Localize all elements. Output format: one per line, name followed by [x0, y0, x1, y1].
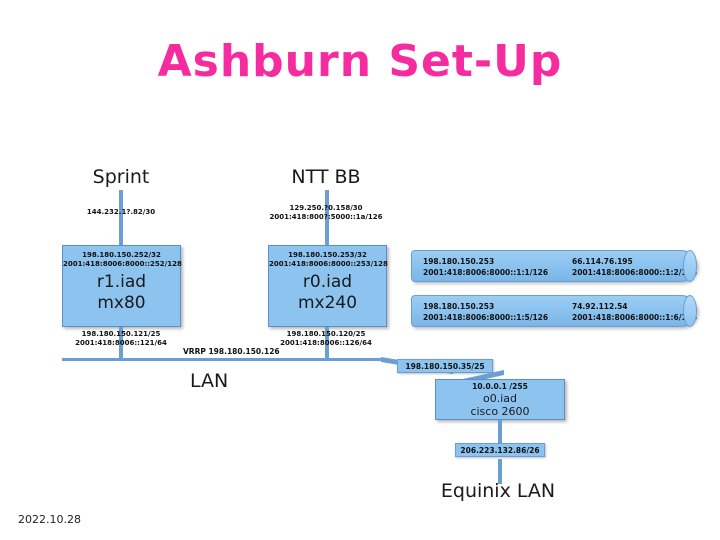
router-r0-loopback-ipv4: 198.180.150.253/32 [269, 246, 386, 260]
iface-label-ntt: 129.250.?0.158/30 2001:418:800?:5000::1a… [265, 204, 387, 222]
link-sprint-to-r1 [119, 190, 123, 245]
provider-label-ntt: NTT BB [266, 166, 386, 188]
peering-1-local-ipv4: 198.180.150.253 [423, 256, 548, 267]
vrrp-label: VRRP 198.180.150.126 [183, 347, 280, 356]
iface-label-r0-lan: 198.180.150.120/25 2001:418:8006::126/64 [265, 330, 387, 348]
router-r1-loopback-ipv6: 2001:418:8006:8000::252/128 [63, 260, 180, 269]
provider-label-sprint: Sprint [61, 166, 181, 188]
iface-sprint-ipv4: 144.232.1?.82/30 [61, 208, 181, 217]
router-r1-model: mx80 [63, 293, 180, 314]
page-title: Ashburn Set-Up [0, 36, 720, 87]
iface-ntt-ipv6: 2001:418:800?:5000::1a/126 [265, 213, 387, 222]
router-r0-loopback-ipv6: 2001:418:8006:8000::253/128 [269, 260, 386, 269]
ip-tag-equinix: 206.223.132.86/26 [455, 443, 545, 457]
link-o0-to-equinix-tag [498, 420, 502, 445]
iface-ntt-ipv4: 129.250.?0.158/30 [265, 204, 387, 213]
router-r0-name: r0.iad [269, 269, 386, 293]
peering-1-local: 198.180.150.253 2001:418:8006:8000::1:1/… [423, 256, 548, 278]
lan-label: LAN [190, 370, 228, 392]
router-node-o0[interactable]: 10.0.0.1 /255 o0.iad cisco 2600 [435, 379, 565, 420]
peering-2-local-ipv4: 198.180.150.253 [423, 301, 548, 312]
lan-bus-line [62, 358, 387, 361]
router-r1-loopback-ipv4: 198.180.150.252/32 [63, 246, 180, 260]
peering-1-local-ipv6: 2001:418:8006:8000::1:1/126 [423, 267, 548, 278]
cylinder-cap-icon [683, 295, 697, 327]
equinix-lan-label: Equinix LAN [398, 480, 598, 502]
router-r1-name: r1.iad [63, 269, 180, 293]
peering-2-local: 198.180.150.253 2001:418:8006:8000::1:5/… [423, 301, 548, 323]
peering-2-remote-ipv4: 74.92.112.54 [572, 301, 697, 312]
peering-2-remote: 74.92.112.54 2001:418:8006:8000::1:6/126 [572, 301, 697, 323]
peering-1-remote-ipv6: 2001:418:8006:8000::1:2/126 [572, 267, 697, 278]
footer-date: 2022.10.28 [18, 513, 81, 526]
peering-cylinder-2[interactable]: 198.180.150.253 2001:418:8006:8000::1:5/… [411, 295, 697, 327]
peering-2-remote-ipv6: 2001:418:8006:8000::1:6/126 [572, 312, 697, 323]
iface-r0-lan-ipv6: 2001:418:8006::126/64 [265, 339, 387, 348]
peering-1-remote: 66.114.76.195 2001:418:8006:8000::1:2/12… [572, 256, 697, 278]
iface-label-sprint: 144.232.1?.82/30 [61, 208, 181, 217]
iface-r1-lan-ipv4: 198.180.150.121/25 [61, 330, 181, 339]
peering-1-remote-ipv4: 66.114.76.195 [572, 256, 697, 267]
slide-canvas: Ashburn Set-Up Sprint NTT BB 144.232.1?.… [0, 0, 720, 540]
router-node-r0[interactable]: 198.180.150.253/32 2001:418:8006:8000::2… [268, 245, 387, 327]
iface-label-r1-lan: 198.180.150.121/25 2001:418:8006::121/64 [61, 330, 181, 348]
iface-r0-lan-ipv4: 198.180.150.120/25 [265, 330, 387, 339]
router-node-r1[interactable]: 198.180.150.252/32 2001:418:8006:8000::2… [62, 245, 181, 327]
router-o0-name: o0.iad [436, 392, 564, 405]
peering-cylinder-1[interactable]: 198.180.150.253 2001:418:8006:8000::1:1/… [411, 250, 697, 282]
router-o0-model: cisco 2600 [436, 405, 564, 418]
cylinder-cap-icon [683, 250, 697, 282]
iface-r1-lan-ipv6: 2001:418:8006::121/64 [61, 339, 181, 348]
peering-2-local-ipv6: 2001:418:8006:8000::1:5/126 [423, 312, 548, 323]
router-o0-ipv4: 10.0.0.1 /255 [436, 380, 564, 392]
router-r0-model: mx240 [269, 293, 386, 314]
